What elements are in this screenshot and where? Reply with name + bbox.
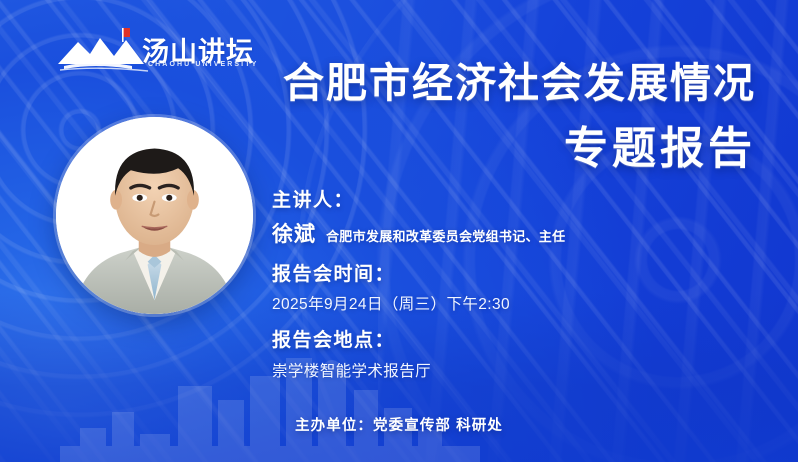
speaker-portrait-image: [56, 117, 253, 314]
poster-headline: 合肥市经济社会发展情况 专题报告: [283, 58, 756, 176]
headline-line-1: 合肥市经济社会发展情况: [283, 58, 756, 108]
site-logo: 汤山讲坛 CHAOHU UNIVERSITY: [56, 22, 246, 78]
speaker-row: 徐斌 合肥市发展和改革委员会党组书记、主任: [272, 218, 672, 248]
organizer-footer: 主办单位：党委宣传部 科研处: [0, 414, 798, 435]
time-label: 报告会时间：: [272, 262, 672, 288]
lecture-info: 主讲人： 徐斌 合肥市发展和改革委员会党组书记、主任 报告会时间： 2025年9…: [272, 188, 672, 381]
mountain-logo-icon: [56, 26, 156, 74]
place-label: 报告会地点：: [272, 328, 672, 354]
speaker-label: 主讲人：: [272, 188, 672, 214]
logo-name-en: CHAOHU UNIVERSITY: [148, 61, 258, 68]
place-value: 崇学楼智能学术报告厅: [272, 359, 672, 381]
lecture-poster: 汤山讲坛 CHAOHU UNIVERSITY 合肥市经济社会发展情况 专题报告: [0, 0, 798, 462]
speaker-portrait: [56, 117, 253, 314]
headline-line-2: 专题报告: [283, 122, 756, 176]
time-value: 2025年9月24日（周三）下午2:30: [272, 292, 672, 314]
speaker-name: 徐斌: [272, 218, 316, 248]
speaker-title: 合肥市发展和改革委员会党组书记、主任: [326, 226, 565, 245]
